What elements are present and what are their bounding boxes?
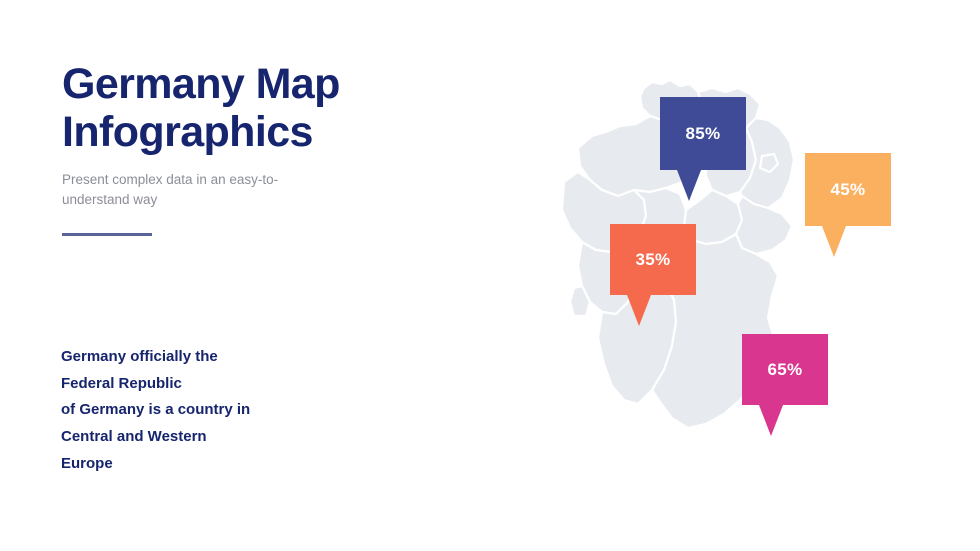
- map-marker-85-box[interactable]: 85%: [660, 97, 746, 170]
- map-marker-35-box[interactable]: 35%: [610, 224, 696, 295]
- body-paragraph: Germany officially the Federal Republic …: [61, 344, 351, 477]
- map-marker-45-box[interactable]: 45%: [805, 153, 891, 226]
- page-title: Germany Map Infographics: [62, 60, 392, 156]
- map-marker-85-label: 85%: [686, 124, 721, 144]
- map-marker-65-pointer-icon: [759, 405, 783, 436]
- map-marker-35-pointer-icon: [627, 295, 651, 326]
- map-marker-85[interactable]: 85%: [660, 97, 746, 170]
- map-marker-45[interactable]: 45%: [805, 153, 891, 226]
- map-marker-65[interactable]: 65%: [742, 334, 828, 405]
- page-subtitle: Present complex data in an easy-to-under…: [62, 170, 307, 209]
- accent-divider: [62, 233, 152, 236]
- map-marker-65-label: 65%: [768, 360, 803, 380]
- map-marker-45-label: 45%: [831, 180, 866, 200]
- map-marker-45-pointer-icon: [822, 226, 846, 257]
- map-marker-35[interactable]: 35%: [610, 224, 696, 295]
- slide-canvas: Germany Map Infographics Present complex…: [0, 0, 980, 551]
- map-marker-85-pointer-icon: [677, 170, 701, 201]
- map-marker-65-box[interactable]: 65%: [742, 334, 828, 405]
- text-column: Germany Map Infographics Present complex…: [62, 60, 392, 209]
- map-marker-35-label: 35%: [636, 250, 671, 270]
